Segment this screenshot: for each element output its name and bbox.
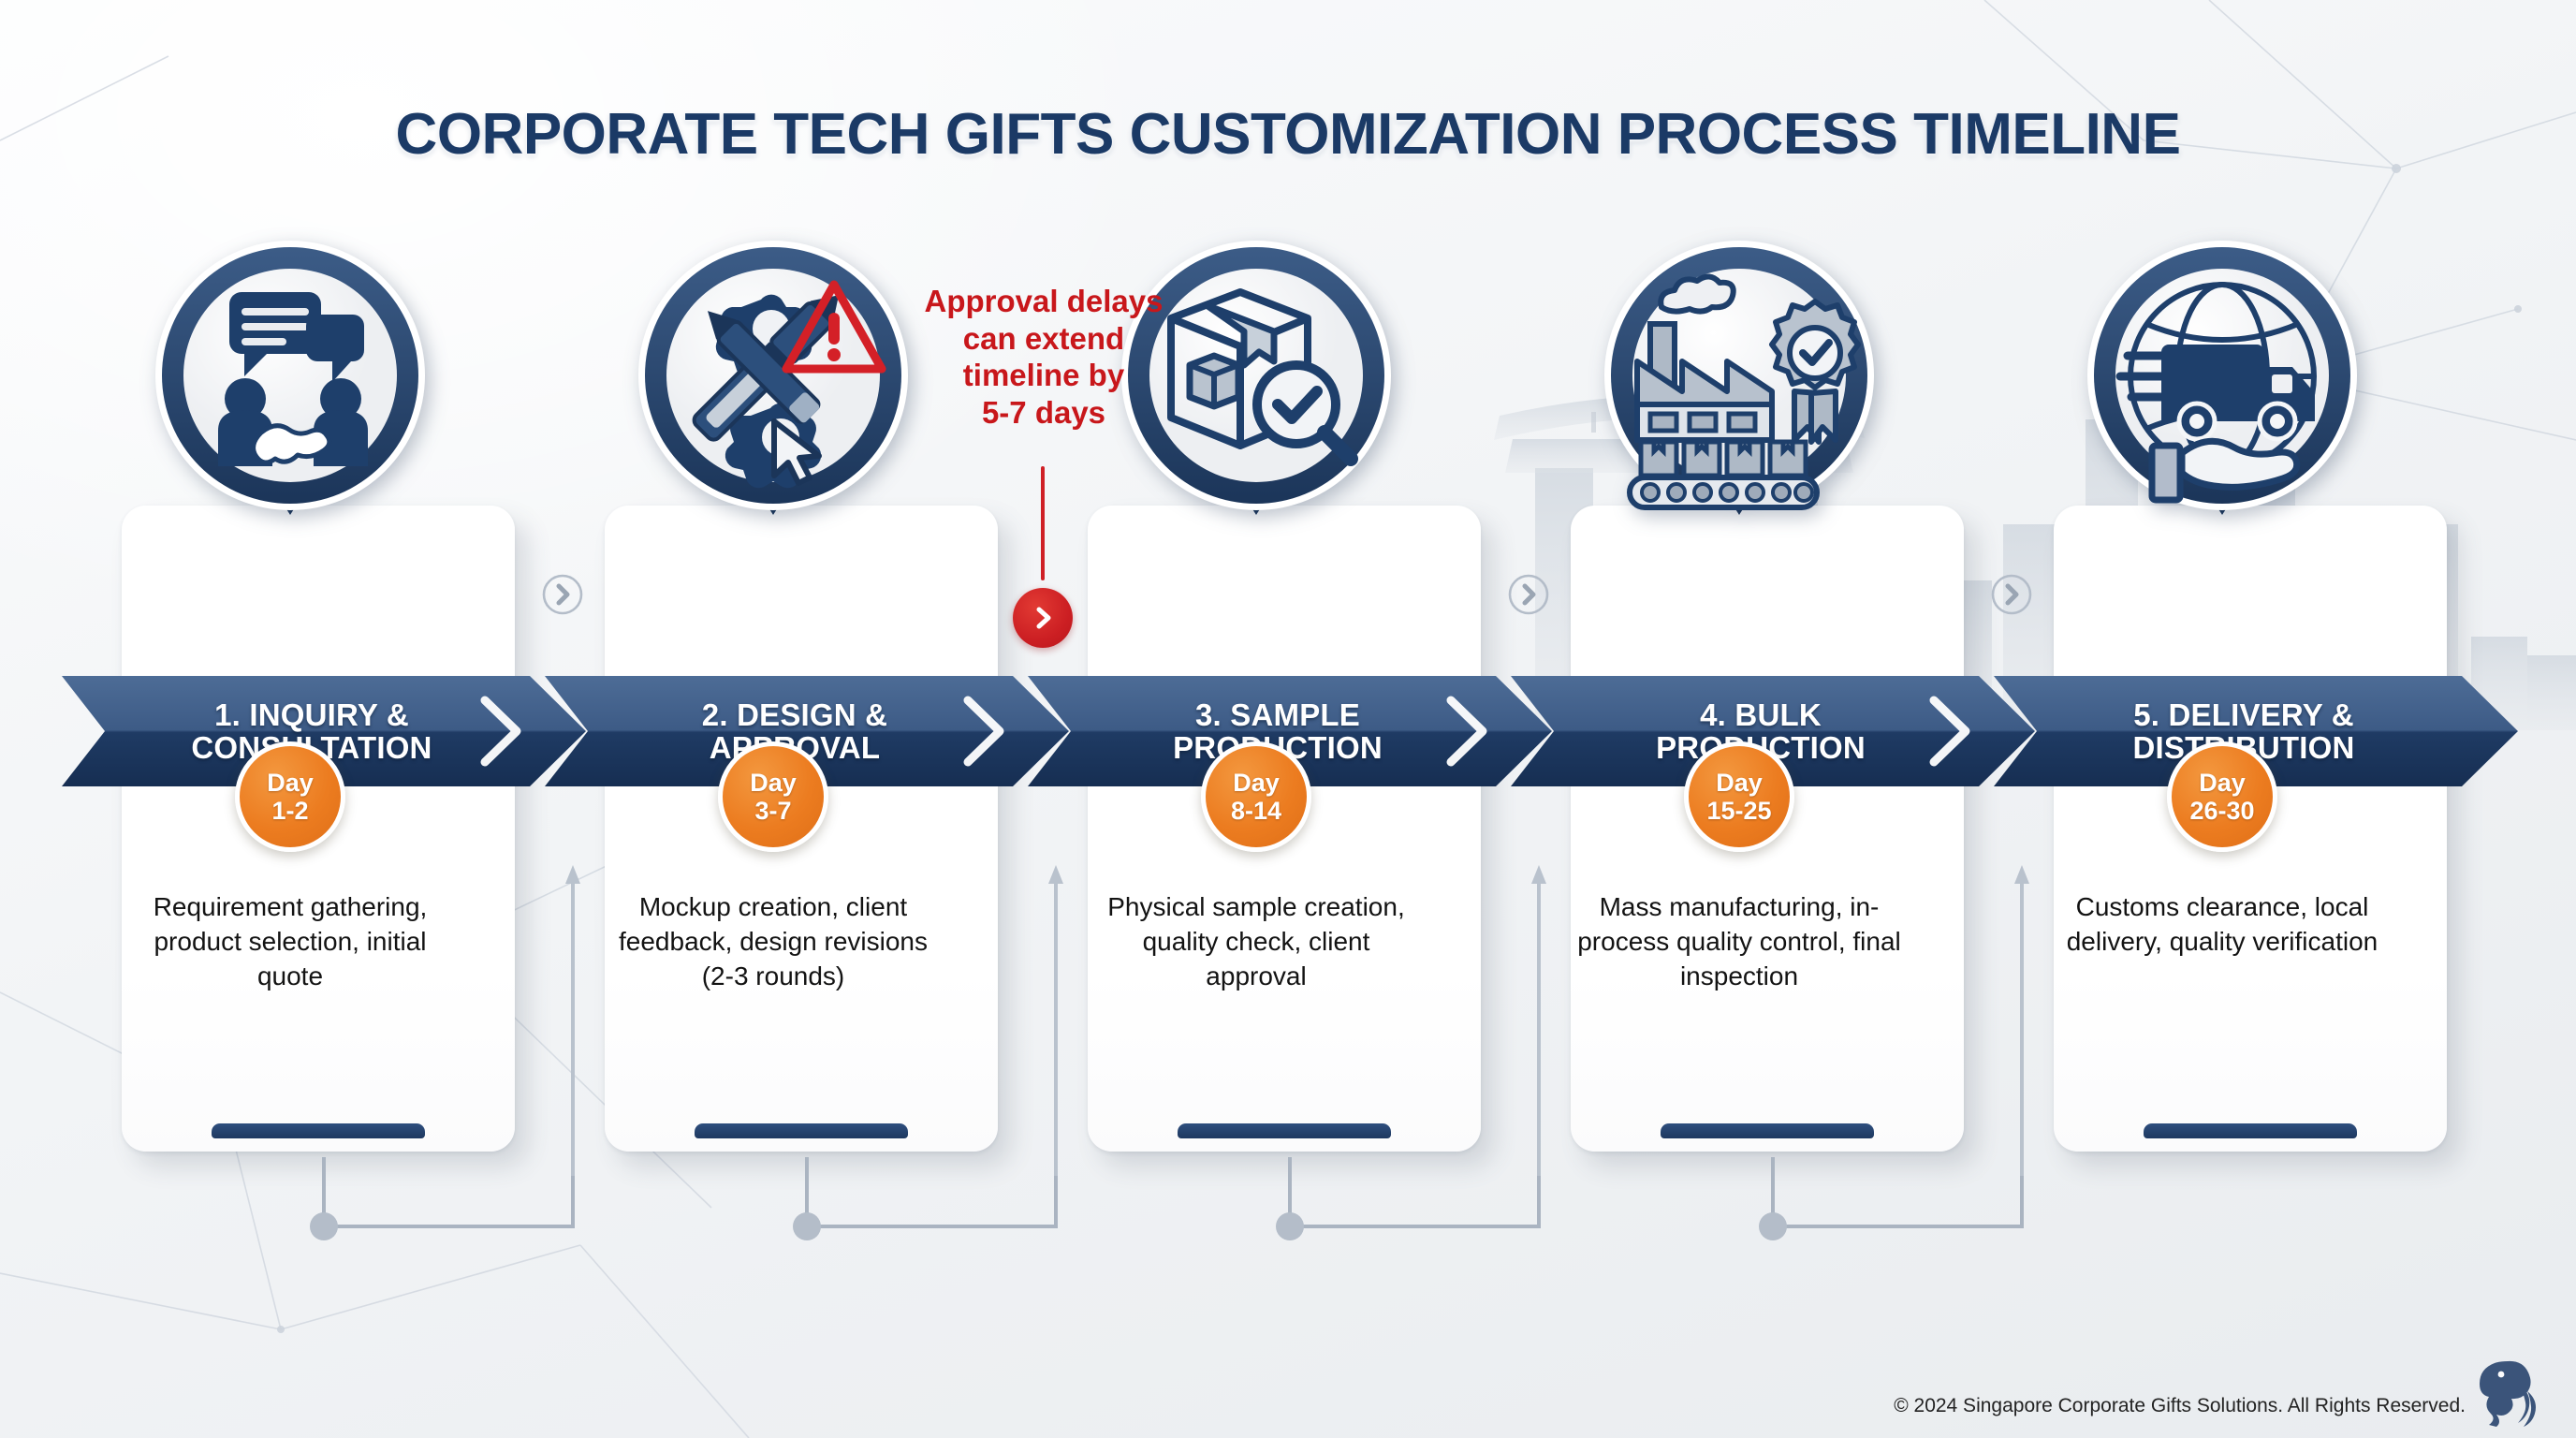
warning-line-1: Approval delays (925, 284, 1164, 318)
banner-line-1: 3. SAMPLE (1195, 697, 1360, 732)
day-range: 15-25 (1706, 797, 1771, 825)
day-badge: Day 3-7 (718, 741, 828, 852)
day-label: Day (267, 769, 314, 797)
warning-chevron-right-icon[interactable] (1013, 588, 1073, 648)
factory-conveyor-badge-icon (1596, 234, 1882, 549)
day-badge: Day 1-2 (235, 741, 345, 852)
day-badge: Day 26-30 (2167, 741, 2277, 852)
day-range: 1-2 (271, 797, 308, 825)
day-label: Day (1716, 769, 1763, 797)
infographic-canvas: CORPORATE TECH GIFTS CUSTOMIZATION PROCE… (0, 0, 2576, 1438)
chevron-right-circle-icon-3[interactable] (1507, 573, 1550, 616)
warning-text: Approval delays can extend timeline by 5… (889, 283, 1198, 431)
warning-line-3: timeline by (963, 358, 1124, 392)
day-badge: Day 15-25 (1684, 741, 1794, 852)
day-range: 8-14 (1231, 797, 1281, 825)
warning-line-4: 5-7 days (982, 395, 1105, 430)
chevron-right-circle-icon-1[interactable] (541, 573, 584, 616)
banner-line-1: 5. DELIVERY & (2133, 697, 2354, 732)
day-label: Day (750, 769, 797, 797)
banner-line-1: 1. INQUIRY & (214, 697, 409, 732)
day-label: Day (2199, 769, 2246, 797)
day-badge: Day 8-14 (1201, 741, 1311, 852)
warning-triangle-icon (779, 277, 889, 380)
chevron-right-circle-icon-4[interactable] (1990, 573, 2033, 616)
footer-copyright: © 2024 Singapore Corporate Gifts Solutio… (1894, 1395, 2466, 1417)
handshake-consultation-icon (147, 234, 433, 549)
day-range: 26-30 (2189, 797, 2254, 825)
approval-delay-warning: Approval delays can extend timeline by 5… (749, 271, 1189, 665)
day-range: 3-7 (754, 797, 791, 825)
banner-line-1: 4. BULK (1700, 697, 1822, 732)
globe-truck-hand-icon (2079, 234, 2365, 549)
day-label: Day (1233, 769, 1280, 797)
warning-connector-line (1041, 466, 1045, 580)
warning-line-2: can extend (963, 321, 1124, 356)
merlion-lion-head-icon (2479, 1357, 2540, 1427)
banner-line-1: 2. DESIGN & (702, 697, 887, 732)
